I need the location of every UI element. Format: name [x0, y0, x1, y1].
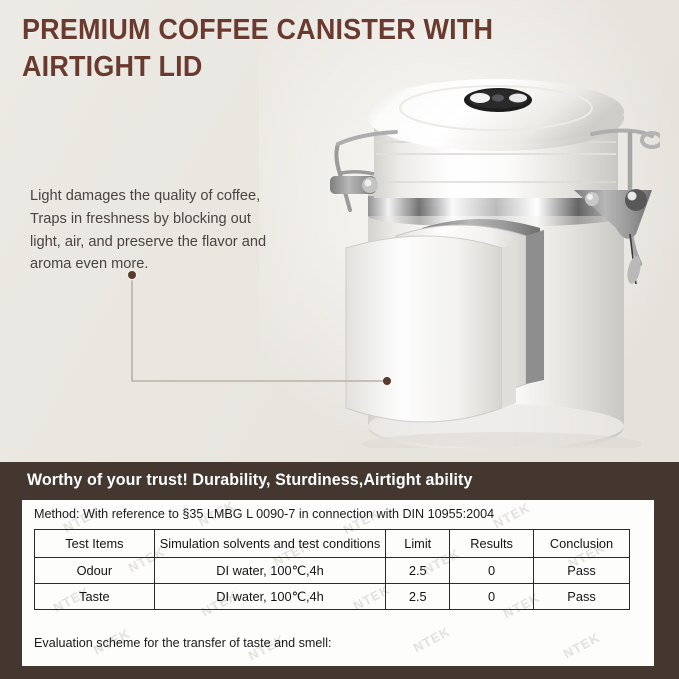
annotation-line-3: light, air, and preserve the flavor and [30, 231, 300, 254]
column-header-results: Results [450, 530, 534, 558]
hero-section: PREMIUM COFFEE CANISTER WITH AIRTIGHT LI… [0, 0, 679, 462]
cell-limit: 2.5 [386, 584, 450, 610]
product-infographic: PREMIUM COFFEE CANISTER WITH AIRTIGHT LI… [0, 0, 679, 679]
column-header-conditions: Simulation solvents and test conditions [154, 530, 386, 558]
cell-conclusion: Pass [534, 584, 630, 610]
watermark: NTEK [491, 500, 533, 531]
test-report-card: NTEK NTEK NTEK NTEK NTEK NTEK NTEK NTEK … [22, 500, 654, 666]
coffee-canister-image [330, 78, 660, 448]
cell-test-item: Taste [35, 584, 155, 610]
column-header-conclusion: Conclusion [534, 530, 630, 558]
table-header-row: Test Items Simulation solvents and test … [35, 530, 630, 558]
trust-section: Worthy of your trust! Durability, Sturdi… [0, 462, 679, 679]
cell-result: 0 [450, 584, 534, 610]
annotation-line-4: aroma even more. [30, 253, 300, 276]
annotation-line-1: Light damages the quality of coffee, [30, 185, 300, 208]
cell-result: 0 [450, 558, 534, 584]
page-title: PREMIUM COFFEE CANISTER WITH AIRTIGHT LI… [22, 12, 580, 86]
cell-conditions: DI water, 100℃,4h [154, 558, 386, 584]
test-results-table: Test Items Simulation solvents and test … [34, 529, 630, 610]
feature-annotation: Light damages the quality of coffee, Tra… [30, 185, 300, 276]
cell-conditions: DI water, 100℃,4h [154, 584, 386, 610]
wall-layer-panels [346, 219, 544, 422]
cell-test-item: Odour [35, 558, 155, 584]
table-row: Taste DI water, 100℃,4h 2.5 0 Pass [35, 584, 630, 610]
trust-heading: Worthy of your trust! Durability, Sturdi… [27, 471, 472, 490]
column-header-limit: Limit [386, 530, 450, 558]
cell-conclusion: Pass [534, 558, 630, 584]
cell-limit: 2.5 [386, 558, 450, 584]
annotation-line-2: Traps in freshness by blocking out [30, 208, 300, 231]
test-method-line: Method: With reference to §35 LMBG L 009… [34, 507, 494, 521]
watermark: NTEK [561, 630, 603, 662]
evaluation-scheme-line: Evaluation scheme for the transfer of ta… [34, 636, 332, 650]
canister-svg [330, 78, 660, 448]
watermark: NTEK [411, 624, 453, 656]
table-row: Odour DI water, 100℃,4h 2.5 0 Pass [35, 558, 630, 584]
column-header-test-items: Test Items [35, 530, 155, 558]
